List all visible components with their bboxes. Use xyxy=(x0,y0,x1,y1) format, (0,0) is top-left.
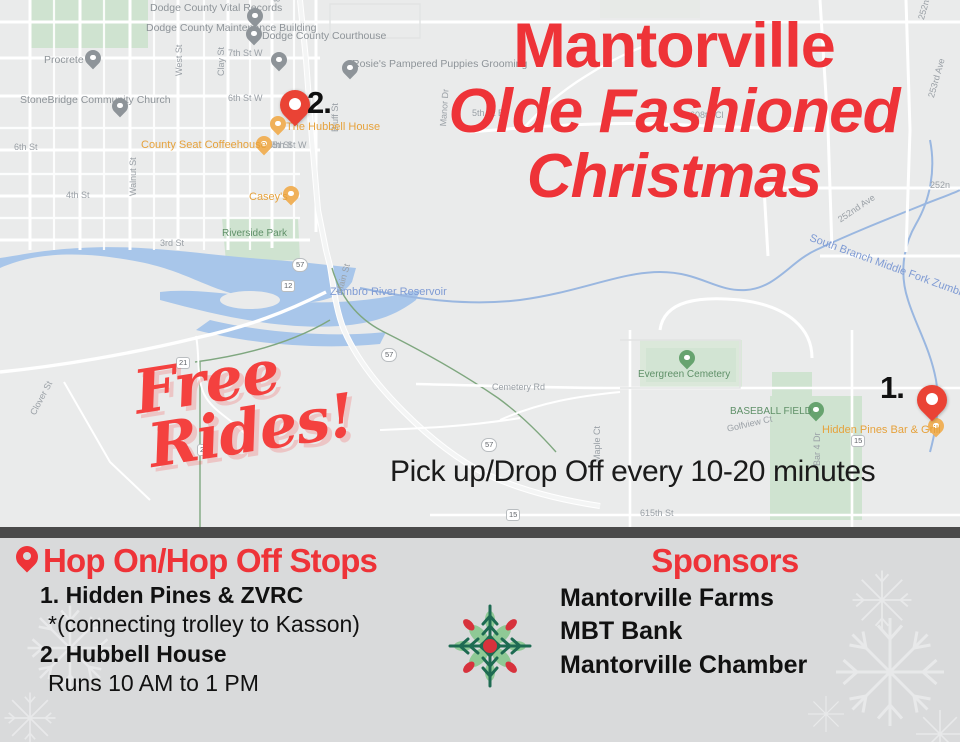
map-background[interactable]: 8th St E 7th St W 6th St W 5th St W 6th … xyxy=(0,0,960,527)
food-pin-icon[interactable] xyxy=(283,186,299,208)
poster-title: Mantorville Olde Fashioned Christmas xyxy=(414,14,934,209)
stop-marker-2-number: 2. xyxy=(307,85,331,121)
sponsor-item: MBT Bank xyxy=(560,615,950,648)
stop-marker-2-pin[interactable] xyxy=(280,90,310,132)
sponsor-item: Mantorville Chamber xyxy=(560,649,950,682)
snowflake-ornament-icon xyxy=(424,590,556,702)
poi-pin-icon[interactable] xyxy=(271,52,287,74)
info-panel: Hop On/Hop Off Stops 1. Hidden Pines & Z… xyxy=(0,538,960,742)
poi-pin-icon[interactable] xyxy=(342,60,358,82)
stop-hours: Runs 10 AM to 1 PM xyxy=(14,669,484,698)
poi-pin-icon[interactable] xyxy=(246,26,262,48)
poi-pin-icon[interactable] xyxy=(112,98,128,120)
poster-root: 8th St E 7th St W 6th St W 5th St W 6th … xyxy=(0,0,960,742)
highway-shield-57b: 57 xyxy=(381,348,397,362)
stops-heading: Hop On/Hop Off Stops xyxy=(14,542,484,580)
highway-shield-57c: 57 xyxy=(481,438,497,452)
title-line-2: Olde Fashioned xyxy=(414,80,934,143)
sponsors-column: Sponsors Mantorville Farms MBT Bank Mant… xyxy=(560,542,950,682)
sponsors-heading: Sponsors xyxy=(560,542,890,580)
park-pin-icon[interactable] xyxy=(808,402,824,424)
stop-item-note: *(connecting trolley to Kasson) xyxy=(14,610,484,639)
poi-pin-icon[interactable] xyxy=(85,50,101,72)
highway-shield-57: 57 xyxy=(292,258,308,272)
stops-heading-text: Hop On/Hop Off Stops xyxy=(43,542,377,580)
stops-column: Hop On/Hop Off Stops 1. Hidden Pines & Z… xyxy=(14,542,484,699)
stop-marker-1-number: 1. xyxy=(880,370,904,406)
section-divider xyxy=(0,527,960,538)
pickup-dropoff-note: Pick up/Drop Off every 10-20 minutes xyxy=(390,455,935,489)
food-pin-icon[interactable] xyxy=(256,136,272,158)
stop-item: 2. Hubbell House xyxy=(14,640,484,669)
highway-shield-15: 15 xyxy=(506,509,520,521)
highway-shield-12: 12 xyxy=(281,280,295,292)
map-pin-icon xyxy=(14,544,40,578)
highway-shield-15b: 15 xyxy=(851,435,865,447)
title-line-1: Mantorville xyxy=(414,14,934,78)
stop-item: 1. Hidden Pines & ZVRC xyxy=(14,581,484,610)
title-line-3: Christmas xyxy=(414,145,934,208)
park-pin-icon[interactable] xyxy=(679,350,695,372)
stop-marker-1-pin[interactable] xyxy=(917,385,947,427)
sponsor-item: Mantorville Farms xyxy=(560,582,950,615)
